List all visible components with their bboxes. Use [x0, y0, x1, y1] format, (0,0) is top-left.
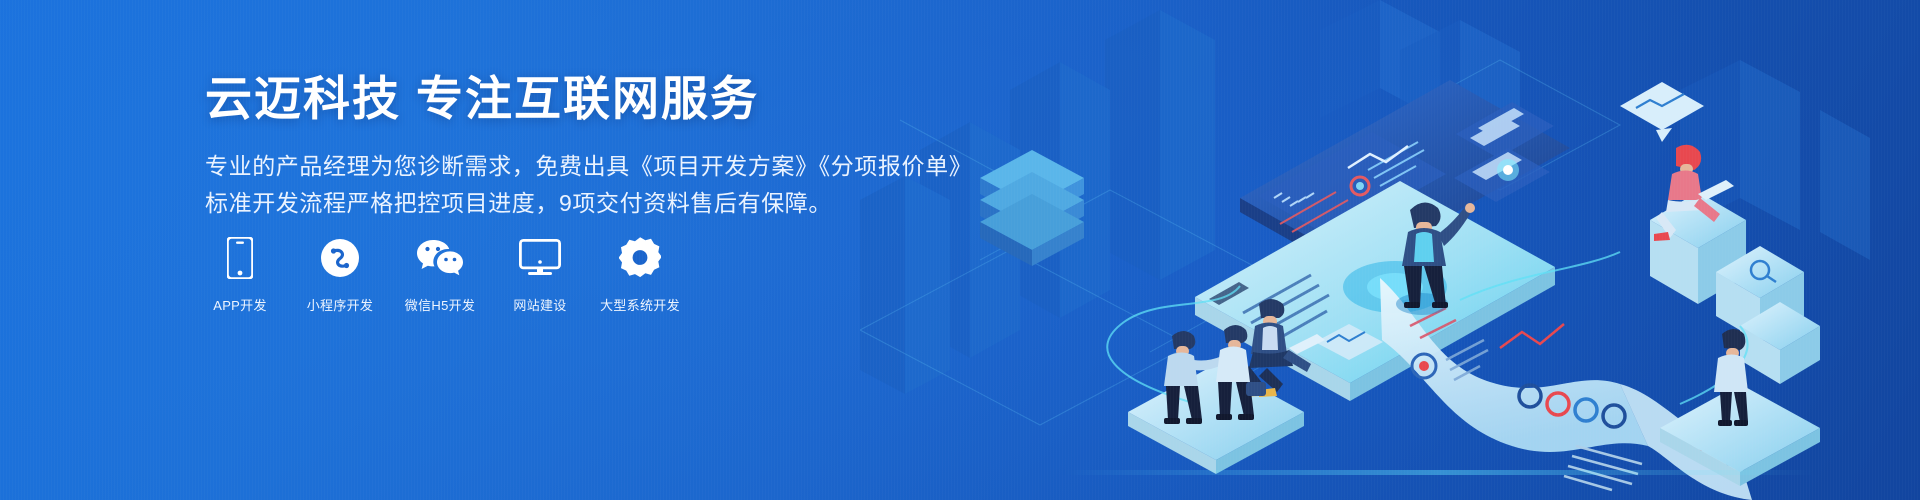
- monitor-icon: [519, 236, 561, 280]
- service-item-mini-program[interactable]: 小程序开发: [303, 236, 377, 314]
- service-label: APP开发: [213, 295, 267, 314]
- service-label: 网站建设: [513, 295, 566, 314]
- subtitle-line-2: 标准开发流程严格把控项目进度，9项交付资料售后有保障。: [205, 185, 925, 222]
- service-label: 微信H5开发: [405, 295, 475, 314]
- service-label: 小程序开发: [307, 295, 374, 314]
- page-title: 云迈科技 专注互联网服务: [205, 72, 925, 126]
- gear-icon: [619, 236, 661, 280]
- wechat-icon: [417, 236, 463, 280]
- service-list: APP开发 小程序开发: [203, 236, 677, 314]
- service-item-website[interactable]: 网站建设: [503, 236, 577, 314]
- subtitle-block: 专业的产品经理为您诊断需求，免费出具《项目开发方案》《分项报价单》 标准开发流程…: [205, 148, 925, 222]
- promo-banner: 云迈科技 专注互联网服务 专业的产品经理为您诊断需求，免费出具《项目开发方案》《…: [0, 0, 1920, 500]
- banner-copy: 云迈科技 专注互联网服务 专业的产品经理为您诊断需求，免费出具《项目开发方案》《…: [205, 72, 925, 222]
- service-item-app[interactable]: APP开发: [203, 236, 277, 314]
- illustration-container: [860, 0, 1920, 500]
- service-label: 大型系统开发: [600, 295, 680, 314]
- service-item-wechat[interactable]: 微信H5开发: [403, 236, 477, 314]
- service-item-large-system[interactable]: 大型系统开发: [603, 236, 677, 314]
- mobile-phone-icon: [227, 236, 253, 280]
- mini-program-icon: [320, 236, 360, 280]
- subtitle-line-1: 专业的产品经理为您诊断需求，免费出具《项目开发方案》《分项报价单》: [205, 148, 925, 185]
